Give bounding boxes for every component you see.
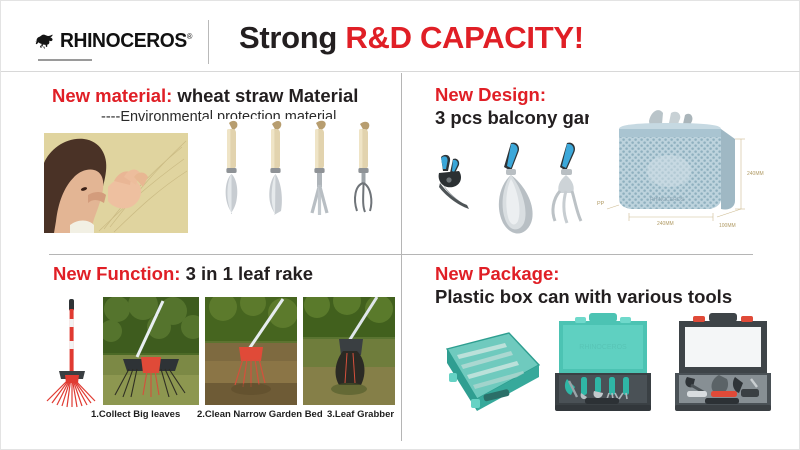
dimension-width: 240MM	[657, 221, 674, 227]
heading-accent: New Package:	[435, 263, 559, 284]
presentation-slide: RHINOCEROS® Strong R&D CAPACITY! New mat…	[0, 0, 800, 450]
heading-accent: New Design:	[435, 84, 546, 105]
leaf-rake-action-photo-1	[103, 297, 199, 405]
horizontal-divider	[49, 254, 753, 255]
storage-basket-art: RHINOCEROS 240MM 240MM 100MM PP	[589, 105, 785, 245]
brand-wordmark: RHINOCEROS®	[60, 29, 192, 53]
panel-new-package-heading: New Package:	[435, 263, 559, 285]
brand-logo: RHINOCEROS®	[35, 19, 200, 63]
heading-accent: New Function:	[53, 263, 180, 284]
page-title-plain: Strong	[239, 20, 345, 55]
material-label: PP	[597, 201, 605, 207]
leaf-rake-captions: 1.Collect Big leaves 2.Clean Narrow Gard…	[91, 409, 401, 425]
page-title-accent: R&D CAPACITY!	[345, 20, 583, 55]
leaf-rake-action-photo-3	[303, 297, 395, 405]
logo-underline-rule	[38, 59, 92, 61]
header-bottom-rule	[1, 71, 800, 72]
panel-new-package: New Package: Plastic box can with variou…	[419, 263, 785, 441]
leaf-rake-product-photo	[41, 297, 97, 409]
panel-new-design-heading: New Design:	[435, 84, 546, 106]
panel-new-package-subheading: Plastic box can with various tools	[435, 286, 732, 308]
tool-case-2-photo: RHINOCEROS	[545, 307, 661, 419]
caption-leaf-grabber: 3.Leaf Grabber	[327, 409, 394, 420]
leaf-rake-action-3-art	[303, 297, 395, 405]
panel-new-material-heading: New material: wheat straw Material	[52, 85, 358, 107]
slide-header: RHINOCEROS® Strong R&D CAPACITY!	[1, 1, 800, 71]
panel-new-material: New material: wheat straw Material ----E…	[35, 81, 401, 254]
header-separator	[208, 20, 209, 64]
leaf-rake-action-photo-2	[205, 297, 297, 405]
leaf-rake-action-1-art	[103, 297, 199, 405]
panel-new-function: New Function: 3 in 1 leaf rake	[35, 263, 401, 441]
vertical-divider	[401, 73, 402, 441]
svg-text:RHINOCEROS: RHINOCEROS	[650, 197, 685, 203]
leaf-rake-action-2-art	[205, 297, 297, 405]
dimension-height: 240MM	[747, 171, 764, 177]
heading-text: 3 in 1 leaf rake	[180, 263, 313, 284]
tool-case-1-art	[427, 315, 543, 419]
wheat-straw-photo	[44, 133, 188, 233]
heading-accent: New material:	[52, 85, 172, 106]
tool-case-3-art	[665, 307, 781, 419]
leaf-rake-product-art	[41, 297, 97, 409]
caption-clean-narrow-garden-bed: 2.Clean Narrow Garden Bed	[197, 409, 323, 420]
heading-text: Plastic box can with various tools	[435, 286, 732, 307]
wheat-straw-photo-art	[44, 133, 188, 233]
svg-text:RHINOCEROS: RHINOCEROS	[579, 344, 627, 351]
caption-collect-big-leaves: 1.Collect Big leaves	[91, 409, 180, 420]
storage-basket-photo: RHINOCEROS 240MM 240MM 100MM PP	[589, 105, 785, 245]
panel-new-function-heading: New Function: 3 in 1 leaf rake	[53, 263, 313, 285]
rhinoceros-logo-icon	[35, 21, 57, 61]
wheat-straw-tools-photo	[203, 119, 401, 237]
heading-text: wheat straw Material	[172, 85, 358, 106]
tool-case-3-photo	[665, 307, 781, 419]
panel-new-design: New Design: 3 pcs balcony garden tools s…	[419, 81, 785, 254]
tool-case-1-photo	[427, 315, 543, 419]
registered-mark: ®	[186, 32, 191, 41]
dimension-depth: 100MM	[719, 223, 736, 229]
tool-case-2-art: RHINOCEROS	[545, 307, 661, 419]
page-title: Strong R&D CAPACITY!	[239, 20, 584, 56]
wheat-straw-tools-art	[203, 119, 401, 237]
